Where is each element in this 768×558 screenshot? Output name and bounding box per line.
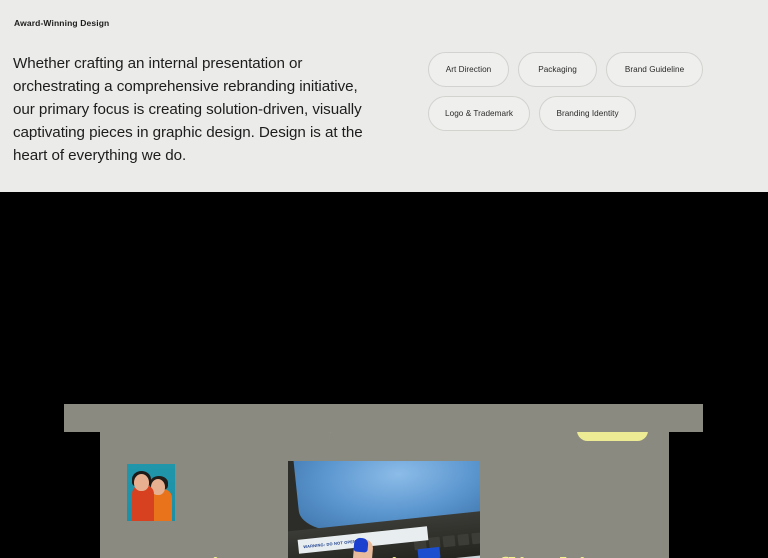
hero-image[interactable]: WARNING: DO NOT OPEN ARE bbox=[288, 461, 480, 558]
site-preview-panel[interactable]: Jarola Projects Services About Book a Ca… bbox=[100, 432, 669, 558]
service-tag-list: Art Direction Packaging Brand Guideline … bbox=[428, 52, 728, 131]
service-tag-art-direction[interactable]: Art Direction bbox=[428, 52, 509, 87]
intro-paragraph: Whether crafting an internal presentatio… bbox=[13, 52, 383, 167]
hero-nail-index bbox=[353, 537, 368, 552]
portrait-head-left bbox=[134, 474, 149, 491]
service-tag-logo-trademark[interactable]: Logo & Trademark bbox=[428, 96, 530, 131]
service-tag-packaging[interactable]: Packaging bbox=[518, 52, 597, 87]
site-header bbox=[100, 432, 669, 460]
header-overlay-band bbox=[64, 404, 703, 432]
service-tag-branding-identity[interactable]: Branding Identity bbox=[539, 96, 636, 131]
service-tag-brand-guideline[interactable]: Brand Guideline bbox=[606, 52, 703, 87]
screenshot-root: Award-Winning Design Whether crafting an… bbox=[0, 0, 768, 558]
preview-section: Jarola Projects Services About Book a Ca… bbox=[0, 192, 768, 558]
portrait-thumbnail[interactable] bbox=[127, 464, 175, 521]
intro-section: Award-Winning Design Whether crafting an… bbox=[0, 0, 768, 192]
eyebrow-label: Award-Winning Design bbox=[14, 18, 109, 28]
preview-headline: Daring / Innovative / Unflinching bbox=[156, 554, 621, 558]
